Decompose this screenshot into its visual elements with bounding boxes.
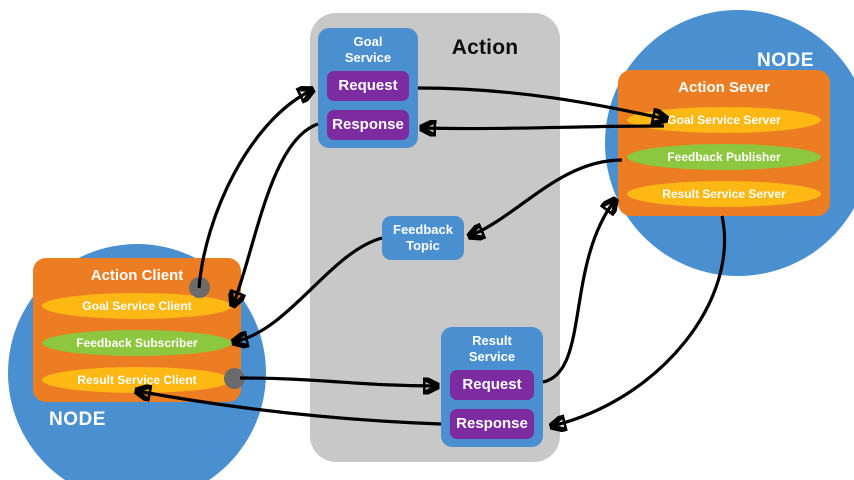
pill-result-service-server[interactable]: Result Service Server xyxy=(627,181,821,207)
diagram-canvas: Action NODE Action Sever Goal Service Se… xyxy=(0,0,854,480)
feedback-topic-box[interactable]: Feedback Topic xyxy=(382,216,464,260)
connector-dot-goal-client xyxy=(189,277,210,298)
pill-feedback-publisher[interactable]: Feedback Publisher xyxy=(627,144,821,170)
goal-service-box: Goal Service Request Response xyxy=(318,28,418,148)
result-service-title: Result Service xyxy=(441,333,543,365)
feedback-topic-line1: Feedback xyxy=(393,222,453,237)
result-service-box: Result Service Request Response xyxy=(441,327,543,447)
arrow-goal-response-to-goal-service-client xyxy=(233,124,318,305)
action-server-title: Action Sever xyxy=(618,79,830,96)
result-service-title-line2: Service xyxy=(469,349,515,364)
node-server-label: NODE xyxy=(757,50,814,72)
goal-service-title-line2: Service xyxy=(345,50,391,65)
action-client-title: Action Client xyxy=(33,267,241,284)
action-server-box: Action Sever Goal Service Server Feedbac… xyxy=(618,70,830,216)
goal-request-box[interactable]: Request xyxy=(327,71,409,101)
action-title: Action xyxy=(430,36,540,60)
feedback-topic-label: Feedback Topic xyxy=(382,222,464,254)
pill-goal-service-server[interactable]: Goal Service Server xyxy=(627,107,821,133)
result-request-box[interactable]: Request xyxy=(450,370,534,400)
result-service-title-line1: Result xyxy=(472,333,512,348)
connector-dot-result-client xyxy=(224,368,245,389)
goal-service-title-line1: Goal xyxy=(354,34,383,49)
action-client-box: Action Client Goal Service Client Feedba… xyxy=(33,258,241,402)
pill-result-service-client[interactable]: Result Service Client xyxy=(42,367,232,393)
pill-feedback-subscriber[interactable]: Feedback Subscriber xyxy=(42,330,232,356)
feedback-topic-line2: Topic xyxy=(406,238,440,253)
node-client-label: NODE xyxy=(49,409,106,431)
goal-response-box[interactable]: Response xyxy=(327,110,409,140)
goal-service-title: Goal Service xyxy=(318,34,418,66)
result-response-box[interactable]: Response xyxy=(450,409,534,439)
